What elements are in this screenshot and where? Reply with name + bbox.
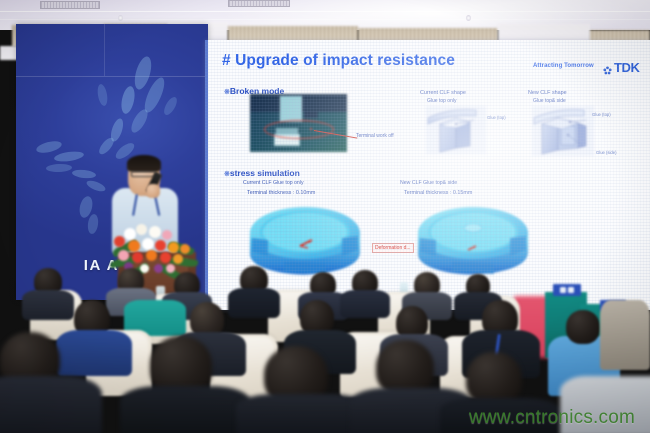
flower-bloom xyxy=(155,240,166,251)
banner-petal xyxy=(119,85,137,115)
audience-body xyxy=(22,290,74,320)
ceiling-vent-center xyxy=(228,0,290,7)
audience-body xyxy=(228,288,280,318)
banner-petal xyxy=(85,179,107,194)
banner-petal xyxy=(72,169,97,179)
tdk-wordmark: TDK xyxy=(614,60,640,75)
flower-bloom xyxy=(166,264,175,273)
ceiling-downlight-left xyxy=(118,15,123,21)
tdk-flower-icon xyxy=(603,63,612,72)
banner-petal xyxy=(35,139,63,155)
audience-body xyxy=(600,300,650,370)
screen-left-edge xyxy=(205,40,208,310)
flower-bloom xyxy=(173,254,183,264)
audience-body xyxy=(340,290,390,318)
photo-probe-chip xyxy=(280,96,302,122)
banner-seam-vertical xyxy=(104,24,105,76)
flower-bloom xyxy=(146,250,157,261)
flower-bloom xyxy=(149,226,161,238)
section-label-stress-simulation: ※stress simulation xyxy=(224,168,300,178)
flower-bloom xyxy=(132,252,143,263)
simulation-render-right xyxy=(408,204,542,278)
banner-seam-horizontal xyxy=(16,76,208,77)
flower-bloom xyxy=(154,264,163,273)
sim-right-subtitle: Terminal thickness : 0.15mm xyxy=(404,190,472,196)
defect-highlight-ellipse xyxy=(264,120,334,139)
new-clf-subtitle: Glue top& side xyxy=(533,98,566,104)
photo-probe-shadow xyxy=(304,94,318,118)
flower-bloom xyxy=(160,252,171,263)
banner-petal xyxy=(128,107,151,135)
banner-petal xyxy=(46,164,72,173)
new-clf-glue-side-label: Glue (side) xyxy=(596,150,616,155)
flower-bloom xyxy=(114,236,125,247)
audience-head xyxy=(566,310,600,344)
new-clf-glue-top-label: Glue (top) xyxy=(592,112,611,117)
audience-body-foreground xyxy=(120,386,250,433)
current-clf-title: Current CLF shape xyxy=(420,90,466,96)
audience-body-blue-jacket xyxy=(56,330,132,376)
flower-bloom xyxy=(124,228,136,240)
audience-body-foreground xyxy=(0,376,102,433)
site-watermark: www.cntronics.com xyxy=(469,407,635,429)
flower-bloom xyxy=(128,240,140,252)
sim-right-title: New CLF Glue top& side xyxy=(400,180,457,186)
current-clf-drawing xyxy=(426,106,486,154)
flower-bloom xyxy=(168,242,179,253)
sign-glyph xyxy=(568,287,574,293)
table-sign-rear xyxy=(553,284,581,296)
banner-petal xyxy=(97,135,117,156)
tdk-tagline: Attracting Tomorrow xyxy=(533,63,594,69)
defect-point xyxy=(310,128,312,130)
current-clf-glue-top-label: Glue (top) xyxy=(487,115,506,120)
sim-left-subtitle: Terminal thickness : 0.10mm xyxy=(247,190,315,196)
ceiling-seam-2 xyxy=(0,19,650,20)
speaker-hair xyxy=(127,155,161,172)
ceiling-downlight-right xyxy=(466,15,471,21)
flower-bloom xyxy=(142,238,154,250)
ceiling-vent-left xyxy=(40,1,100,9)
flower-bloom xyxy=(162,230,172,240)
sim-left-title: Current CLF Glue top only xyxy=(243,180,304,186)
banner-petal xyxy=(54,150,85,163)
flower-bloom xyxy=(140,264,149,273)
audience-body-foreground xyxy=(236,394,368,433)
broken-mode-callout: Terminal work off xyxy=(356,133,394,139)
ceiling-seam-1 xyxy=(0,11,650,12)
tdk-logo: TDK xyxy=(603,60,640,75)
speaker-hand xyxy=(146,184,160,198)
new-clf-title: New CLF shape xyxy=(528,90,567,96)
slide-title: # Upgrade of impact resistance xyxy=(222,52,455,70)
broken-mode-photo xyxy=(250,94,347,152)
flower-bloom xyxy=(118,250,129,261)
banner-petal xyxy=(162,95,180,117)
banner-petal xyxy=(96,83,109,106)
flower-bloom xyxy=(136,224,147,235)
flower-bloom xyxy=(180,244,190,254)
banner-petal xyxy=(87,213,100,234)
current-clf-subtitle: Glue top only xyxy=(427,98,456,104)
new-clf-drawing xyxy=(532,106,594,156)
conference-photo-scene: IA ATE # Upgrade of impact resistance At… xyxy=(0,0,650,433)
sign-glyph xyxy=(560,287,566,293)
